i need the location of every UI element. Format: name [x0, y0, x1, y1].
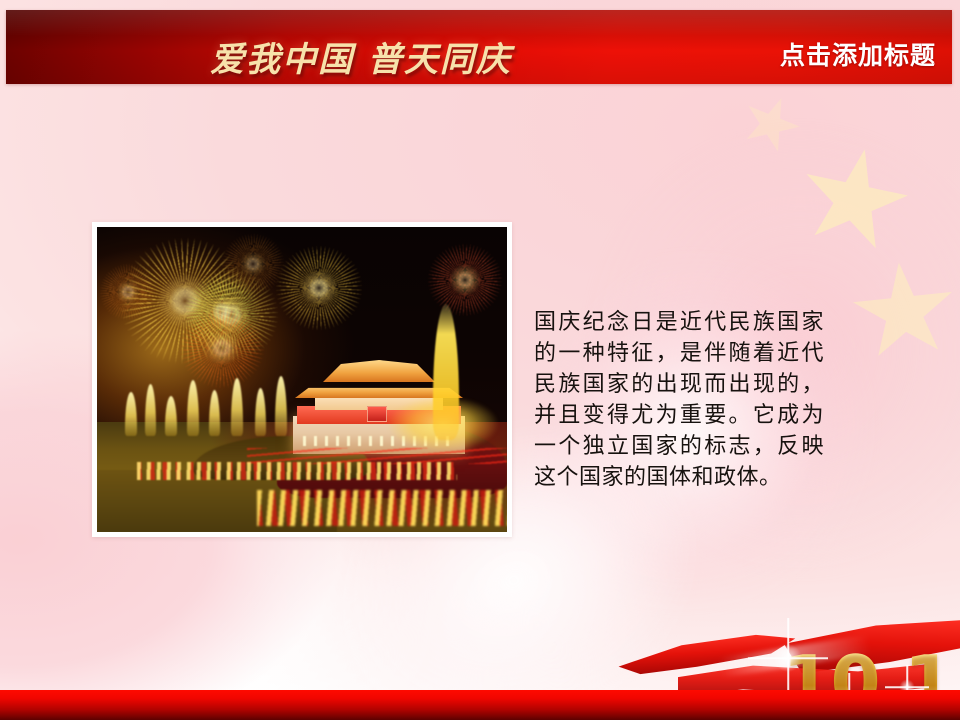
photo-flower-bed-upper: [137, 462, 457, 480]
gate-upper-roof: [323, 360, 435, 382]
header-calligraphy: 爱我中国 普天同庆: [196, 28, 526, 84]
header-banner: 爱我中国 普天同庆 点击添加标题: [6, 10, 952, 84]
sparkle-icon: [768, 638, 808, 678]
photo-flower-bed-lower: [257, 490, 507, 526]
firework-burst-icon: [275, 245, 363, 331]
slide-canvas: 爱我中国 普天同庆 点击添加标题: [0, 0, 960, 720]
body-paragraph[interactable]: 国庆纪念日是近代民族国家的一种特征，是伴随着近代民族国家的出现而出现的，并且变得…: [534, 306, 824, 492]
firework-burst-icon: [427, 243, 503, 317]
footer-bar: [0, 690, 960, 720]
firework-burst-icon: [179, 307, 265, 389]
gate-portrait: [367, 406, 387, 422]
photo-frame[interactable]: [92, 222, 512, 537]
page-title[interactable]: 点击添加标题: [780, 36, 936, 72]
tiananmen-fireworks-photo: [97, 227, 507, 532]
